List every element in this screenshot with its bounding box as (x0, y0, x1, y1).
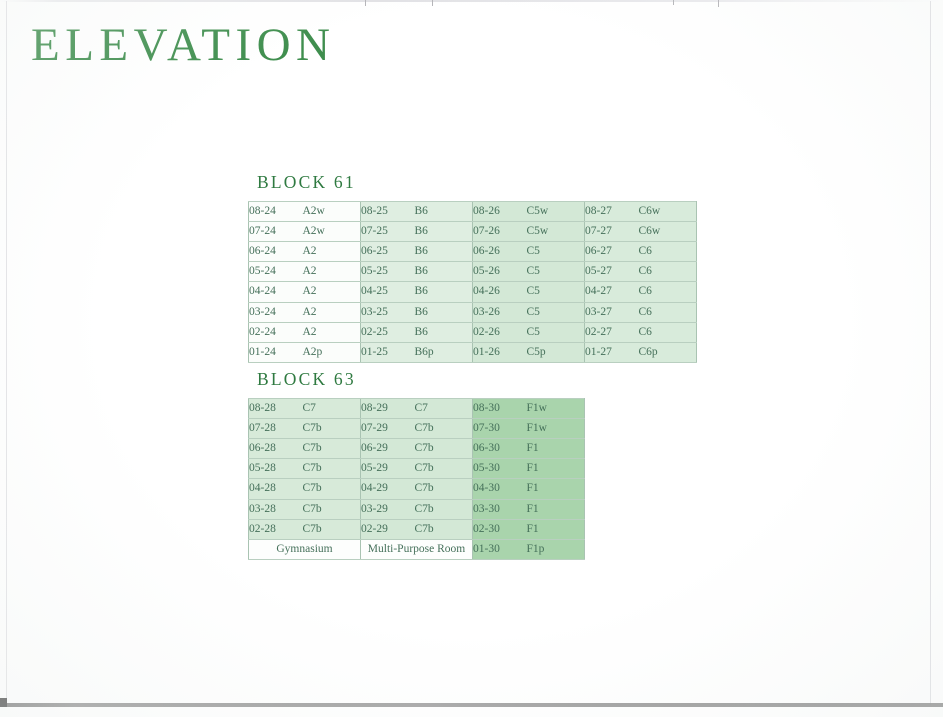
unit-type: C7b (303, 459, 361, 479)
unit-type: C7b (303, 499, 361, 519)
unit-type: C7 (415, 398, 473, 418)
block-61-table: 08-24 A2w 08-25 B6 08-26 C5w 08-27 C6w 0… (248, 201, 697, 364)
table-row: 07-28 C7b 07-29 C7b 07-30 F1w (249, 418, 585, 438)
unit-code: 02-30 (473, 519, 527, 539)
unit-type: C7b (415, 459, 473, 479)
unit-type: F1 (527, 499, 585, 519)
unit-code: 04-29 (361, 479, 415, 499)
unit-code: 08-28 (249, 398, 303, 418)
scan-tick-mark (432, 0, 433, 6)
unit-code: 07-24 (249, 221, 303, 241)
scan-tick-mark (673, 0, 674, 5)
unit-code: 04-25 (361, 282, 415, 302)
unit-type: B6 (415, 302, 473, 322)
block-63-table: 08-28 C7 08-29 C7 08-30 F1w 07-28 C7b 07… (248, 398, 585, 561)
scanned-page: ELEVATION BLOCK 61 08-24 A2w 08-25 B6 08… (0, 0, 943, 717)
unit-code: 03-25 (361, 302, 415, 322)
unit-type: C5 (527, 262, 585, 282)
unit-type: C7b (303, 519, 361, 539)
unit-code: 04-26 (473, 282, 527, 302)
table-row: 06-28 C7b 06-29 C7b 06-30 F1 (249, 438, 585, 458)
unit-type: B6 (415, 221, 473, 241)
unit-code: 01-30 (473, 539, 527, 559)
unit-type: C7b (415, 479, 473, 499)
unit-type: F1 (527, 479, 585, 499)
unit-code: 01-24 (249, 342, 303, 362)
unit-type: C5 (527, 282, 585, 302)
table-row: 01-24 A2p 01-25 B6p 01-26 C5p 01-27 C6p (249, 342, 697, 362)
unit-type: C5w (527, 201, 585, 221)
unit-type: A2 (303, 282, 361, 302)
unit-code: 03-27 (585, 302, 639, 322)
unit-code: 03-30 (473, 499, 527, 519)
scan-tick-mark (718, 0, 719, 7)
unit-type: C6 (639, 322, 697, 342)
unit-code: 06-29 (361, 438, 415, 458)
table-row: 03-28 C7b 03-29 C7b 03-30 F1 (249, 499, 585, 519)
scan-edge-right (930, 1, 931, 705)
unit-code: 03-28 (249, 499, 303, 519)
unit-type: C5 (527, 241, 585, 261)
unit-code: 05-24 (249, 262, 303, 282)
unit-code: 08-27 (585, 201, 639, 221)
unit-code: 08-24 (249, 201, 303, 221)
unit-code: 04-30 (473, 479, 527, 499)
scan-corner-artifact (0, 698, 7, 707)
unit-code: 06-28 (249, 438, 303, 458)
table-row: 02-28 C7b 02-29 C7b 02-30 F1 (249, 519, 585, 539)
unit-code: 07-27 (585, 221, 639, 241)
scan-edge-left (6, 1, 7, 707)
unit-type: A2w (303, 201, 361, 221)
block-61-title: BLOCK 61 (257, 174, 697, 192)
unit-type: C6 (639, 241, 697, 261)
unit-code: 03-26 (473, 302, 527, 322)
page-title: ELEVATION (31, 22, 336, 69)
unit-type: B6 (415, 201, 473, 221)
unit-code: 08-30 (473, 398, 527, 418)
scan-edge-bottom-margin (0, 707, 943, 717)
table-row: 05-24 A2 05-25 B6 05-26 C5 05-27 C6 (249, 262, 697, 282)
unit-type: F1 (527, 519, 585, 539)
unit-code: 05-26 (473, 262, 527, 282)
table-row: 07-24 A2w 07-25 B6 07-26 C5w 07-27 C6w (249, 221, 697, 241)
unit-type: A2 (303, 322, 361, 342)
unit-code: 02-28 (249, 519, 303, 539)
unit-code: 06-27 (585, 241, 639, 261)
table-row: 03-24 A2 03-25 B6 03-26 C5 03-27 C6 (249, 302, 697, 322)
unit-code: 07-26 (473, 221, 527, 241)
unit-code: 02-26 (473, 322, 527, 342)
table-row: Gymnasium Multi-Purpose Room 01-30 F1p (249, 539, 585, 559)
unit-type: C6w (639, 221, 697, 241)
unit-code: 02-24 (249, 322, 303, 342)
unit-type: A2 (303, 302, 361, 322)
unit-code: 05-30 (473, 459, 527, 479)
unit-code: 01-25 (361, 342, 415, 362)
unit-code: 03-29 (361, 499, 415, 519)
unit-code: 04-28 (249, 479, 303, 499)
unit-code: 07-25 (361, 221, 415, 241)
unit-code: 06-26 (473, 241, 527, 261)
unit-code: 06-30 (473, 438, 527, 458)
unit-type: F1p (527, 539, 585, 559)
unit-type: F1 (527, 438, 585, 458)
unit-type: B6 (415, 322, 473, 342)
unit-type: C7b (303, 418, 361, 438)
table-row: 08-28 C7 08-29 C7 08-30 F1w (249, 398, 585, 418)
unit-type: C7b (415, 418, 473, 438)
unit-type: C6w (639, 201, 697, 221)
unit-code: 07-30 (473, 418, 527, 438)
unit-type: C7b (415, 519, 473, 539)
unit-code: 08-25 (361, 201, 415, 221)
unit-type: B6p (415, 342, 473, 362)
unit-type: C7 (303, 398, 361, 418)
unit-code: 04-24 (249, 282, 303, 302)
unit-code: 02-29 (361, 519, 415, 539)
unit-code: 02-27 (585, 322, 639, 342)
table-row: 02-24 A2 02-25 B6 02-26 C5 02-27 C6 (249, 322, 697, 342)
table-row: 05-28 C7b 05-29 C7b 05-30 F1 (249, 459, 585, 479)
block-61-rows: 08-24 A2w 08-25 B6 08-26 C5w 08-27 C6w 0… (249, 201, 697, 363)
table-row: 08-24 A2w 08-25 B6 08-26 C5w 08-27 C6w (249, 201, 697, 221)
block-63-title: BLOCK 63 (257, 371, 585, 389)
table-row: 04-24 A2 04-25 B6 04-26 C5 04-27 C6 (249, 282, 697, 302)
unit-type: C6 (639, 262, 697, 282)
unit-type: F1 (527, 459, 585, 479)
unit-code: 07-28 (249, 418, 303, 438)
unit-type: A2p (303, 342, 361, 362)
block-63-rows: 08-28 C7 08-29 C7 08-30 F1w 07-28 C7b 07… (249, 398, 585, 560)
unit-type: F1w (527, 418, 585, 438)
unit-type: C5p (527, 342, 585, 362)
table-row: 06-24 A2 06-25 B6 06-26 C5 06-27 C6 (249, 241, 697, 261)
unit-code: 06-24 (249, 241, 303, 261)
unit-type: C7b (303, 438, 361, 458)
unit-code: 03-24 (249, 302, 303, 322)
facility-label-multi-purpose-room: Multi-Purpose Room (361, 539, 473, 559)
unit-type: A2w (303, 221, 361, 241)
unit-type: B6 (415, 262, 473, 282)
unit-code: 02-25 (361, 322, 415, 342)
unit-type: B6 (415, 241, 473, 261)
unit-type: C6 (639, 302, 697, 322)
unit-code: 05-27 (585, 262, 639, 282)
unit-code: 07-29 (361, 418, 415, 438)
unit-type: C5 (527, 302, 585, 322)
unit-code: 08-26 (473, 201, 527, 221)
unit-code: 05-28 (249, 459, 303, 479)
unit-code: 08-29 (361, 398, 415, 418)
unit-code: 06-25 (361, 241, 415, 261)
scan-tick-mark (365, 0, 366, 6)
unit-code: 04-27 (585, 282, 639, 302)
unit-type: C7b (415, 438, 473, 458)
unit-type: C5w (527, 221, 585, 241)
unit-type: C6 (639, 282, 697, 302)
unit-code: 05-29 (361, 459, 415, 479)
unit-type: C7b (303, 479, 361, 499)
unit-type: A2 (303, 262, 361, 282)
unit-code: 01-27 (585, 342, 639, 362)
unit-type: A2 (303, 241, 361, 261)
unit-type: C5 (527, 322, 585, 342)
unit-type: C6p (639, 342, 697, 362)
unit-type: F1w (527, 398, 585, 418)
scan-edge-top (0, 0, 943, 2)
block-63-section: BLOCK 63 08-28 C7 08-29 C7 08-30 F1w 07-… (248, 371, 585, 560)
unit-type: B6 (415, 282, 473, 302)
facility-label-gymnasium: Gymnasium (249, 539, 361, 559)
unit-code: 01-26 (473, 342, 527, 362)
block-61-section: BLOCK 61 08-24 A2w 08-25 B6 08-26 C5w 08… (248, 174, 697, 363)
unit-code: 05-25 (361, 262, 415, 282)
table-row: 04-28 C7b 04-29 C7b 04-30 F1 (249, 479, 585, 499)
unit-type: C7b (415, 499, 473, 519)
